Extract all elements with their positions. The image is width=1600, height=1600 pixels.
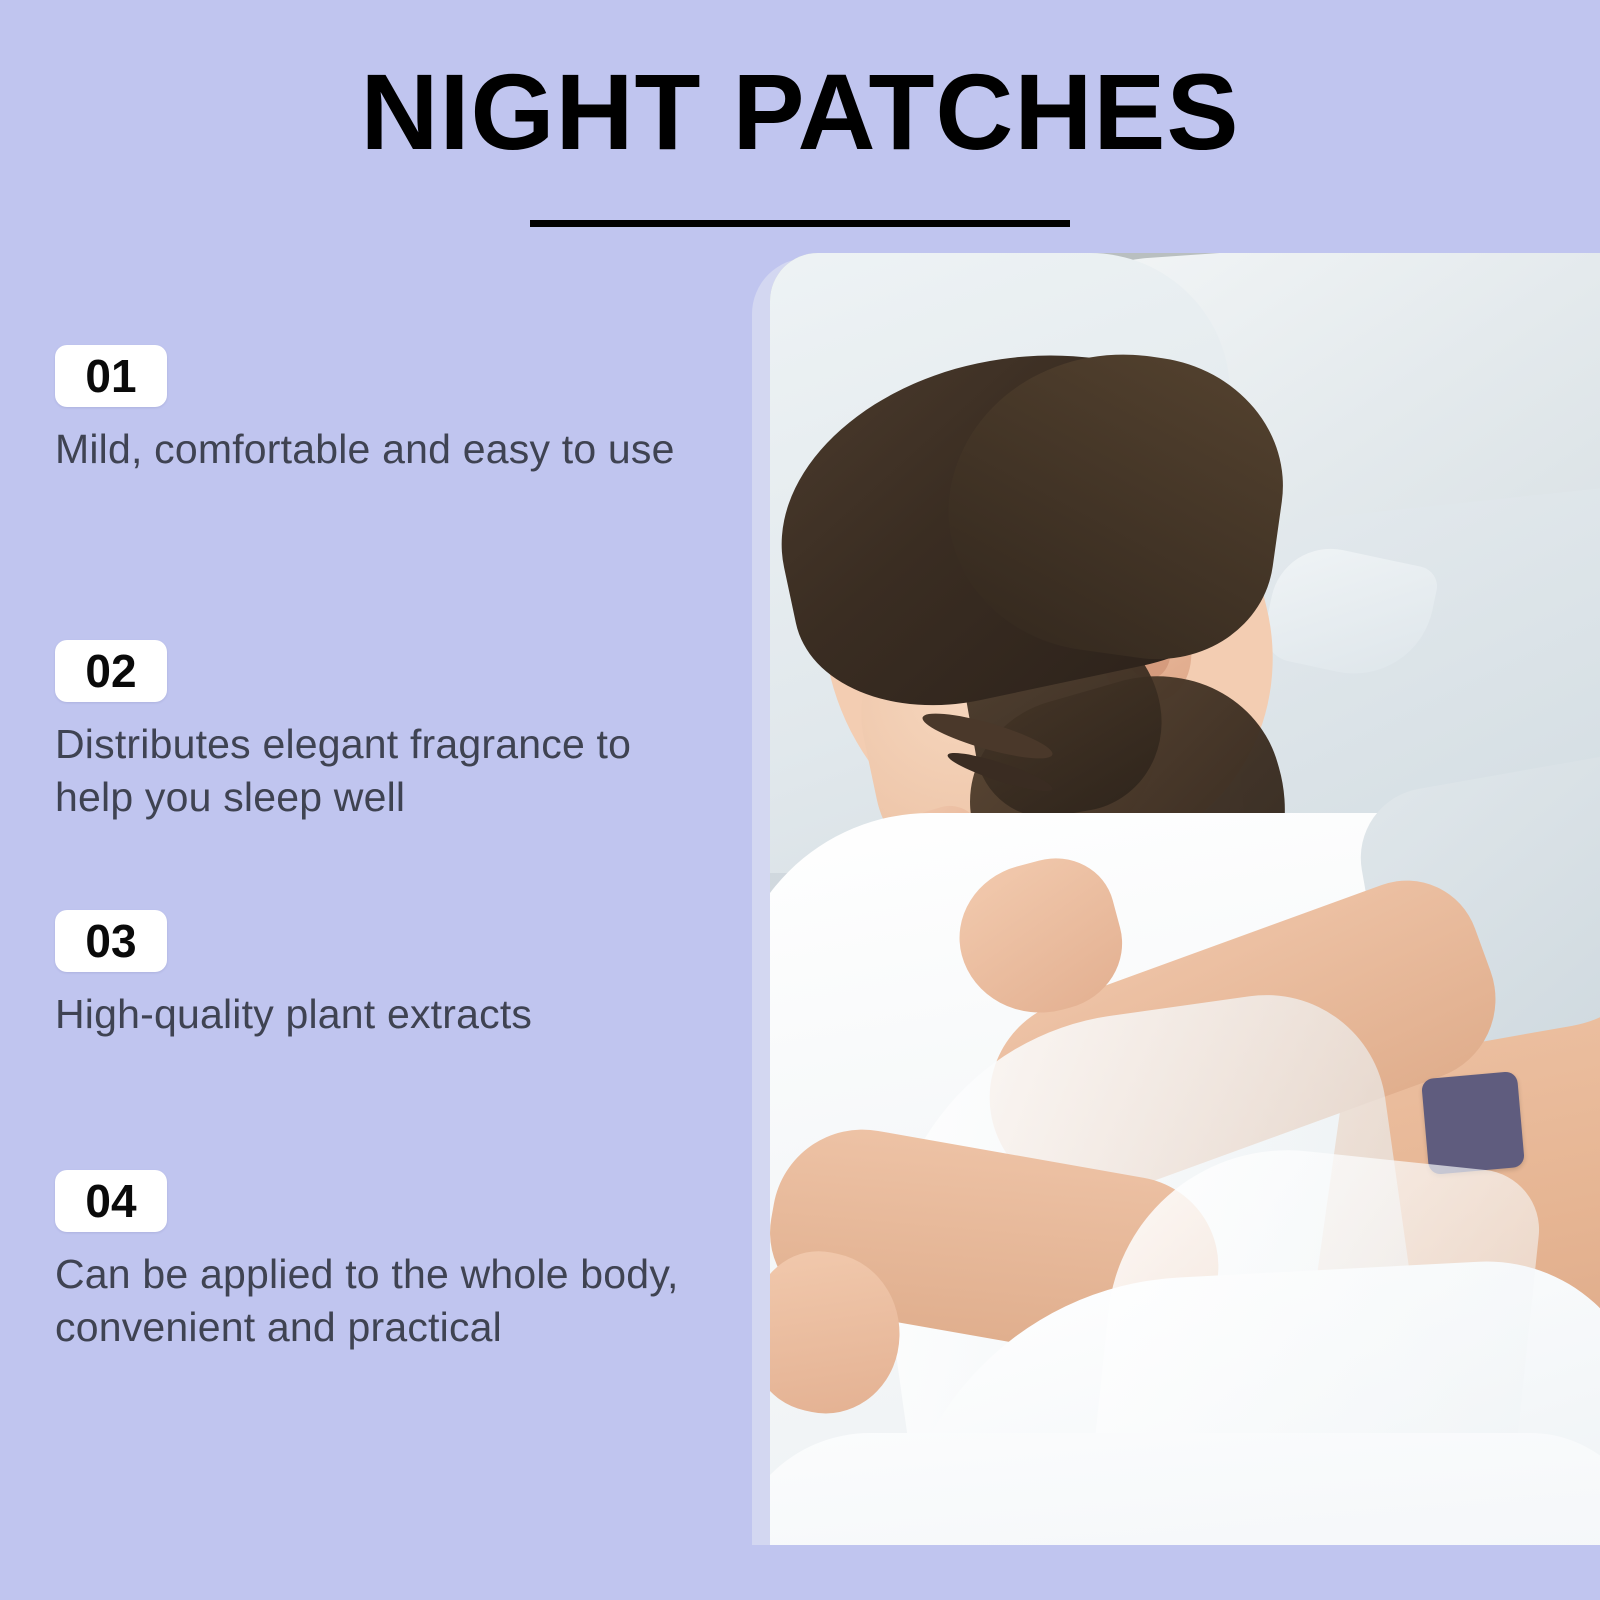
feature-description: Mild, comfortable and easy to use [55,423,705,476]
feature-description: Distributes elegant fragrance to help yo… [55,718,705,825]
feature-number-badge: 02 [55,640,167,702]
page-title: NIGHT PATCHES [360,58,1239,166]
feature-description: Can be applied to the whole body, conven… [55,1248,705,1355]
feature-description: High-quality plant extracts [55,988,705,1041]
feature-list: 01 Mild, comfortable and easy to use 02 … [0,253,740,1600]
title-divider [530,220,1070,227]
feature-number-badge: 03 [55,910,167,972]
night-patch-on-arm [1421,1071,1525,1175]
feature-number-badge: 04 [55,1170,167,1232]
feature-item-02: 02 Distributes elegant fragrance to help… [55,640,715,825]
feature-item-03: 03 High-quality plant extracts [55,910,715,1041]
header: NIGHT PATCHES [0,0,1600,240]
photo-duvet-foreground [770,1433,1600,1545]
feature-item-01: 01 Mild, comfortable and easy to use [55,345,715,476]
feature-number-badge: 01 [55,345,167,407]
feature-item-04: 04 Can be applied to the whole body, con… [55,1170,715,1355]
product-photo [770,253,1600,1545]
